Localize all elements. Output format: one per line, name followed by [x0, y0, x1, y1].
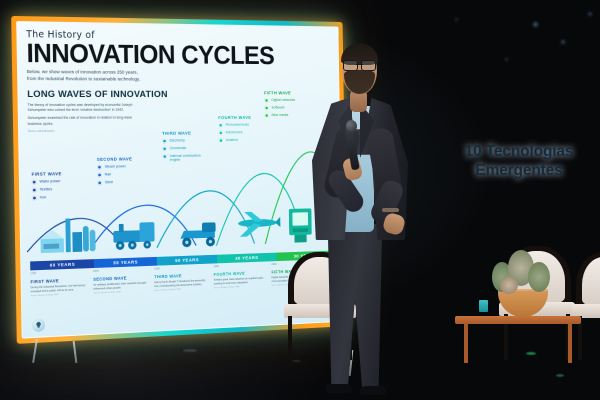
duration-label: 60 YEARS: [50, 262, 75, 268]
wave-item-label: Water power: [39, 179, 60, 184]
table-leg: [464, 323, 468, 363]
overlay-title: 10 Tecnologias Emergentes: [446, 143, 592, 181]
wave-item-label: Rail: [105, 172, 111, 177]
wave-item-label: Textiles: [40, 187, 53, 192]
bullet-dot: [32, 179, 37, 184]
wave-item: Digital networks: [264, 98, 295, 103]
wave-item: Petrochemicals: [218, 122, 251, 128]
wave-legend-second: SECOND WAVE Steam power Rail Steel: [97, 156, 133, 187]
teal-cup: [479, 300, 488, 312]
wave-item: Chemicals: [162, 145, 210, 151]
table-leg: [568, 323, 572, 363]
footnote-text: Aviation gave mass adoption on a global …: [214, 276, 268, 286]
wave-item: Water power: [32, 179, 62, 185]
year-tick: 1900: [154, 267, 160, 270]
overlay-line-2: Emergentes: [446, 162, 592, 181]
year-tick: 1950: [214, 265, 219, 268]
footnote-text: Henry Ford's Model T introduced the asse…: [154, 279, 209, 289]
presenter-trousers: [324, 224, 386, 392]
bokeh-light: [455, 18, 458, 21]
presenter-shoe: [360, 386, 386, 395]
wave-title: FOURTH WAVE: [218, 115, 251, 120]
wave-legend-fourth: FOURTH WAVE Petrochemicals Electronics A…: [218, 115, 252, 145]
overlay-line-1: 10 Tecnologias: [446, 143, 592, 162]
wave-title: FIFTH WAVE: [264, 91, 295, 96]
stage-scene: The History of INNOVATION CYCLES Below, …: [0, 0, 600, 400]
wooden-coffee-table: [455, 316, 581, 324]
automobile-icon: [175, 218, 223, 248]
wave-title: FIRST WAVE: [32, 171, 62, 176]
eyeglasses: [343, 60, 376, 69]
floor-glint: [526, 352, 536, 355]
bullet-dot: [264, 105, 269, 110]
flower: [500, 276, 518, 294]
wave-item: Software: [264, 105, 295, 110]
wave-legend-first: FIRST WAVE Water power Textiles Iron: [32, 171, 63, 203]
bokeh-light: [588, 12, 592, 16]
bullet-dot: [162, 146, 167, 151]
screen-leg: [73, 341, 78, 363]
bullet-dot: [162, 138, 167, 143]
wave-legend-third: THIRD WAVE Electricity Chemicals Interna…: [162, 131, 210, 165]
bullet-dot: [32, 195, 37, 200]
floor-glint: [292, 360, 301, 362]
duration-label: 40 YEARS: [235, 255, 258, 261]
ornate-chair-right: [572, 252, 600, 362]
floor-glint: [556, 374, 564, 377]
wave-item: Rail: [97, 172, 133, 178]
duration-label: 50 YEARS: [175, 257, 199, 263]
footnote-fourth: FOURTH WAVE Aviation gave mass adoption …: [214, 270, 268, 290]
bullet-dot: [97, 180, 102, 185]
bullet-dot: [162, 154, 167, 159]
wave-title: THIRD WAVE: [162, 131, 210, 136]
wave-item-label: Chemicals: [170, 146, 187, 151]
wave-item: Aviation: [219, 137, 252, 143]
presenter: [300, 28, 432, 400]
wave-item: New media: [264, 113, 295, 118]
wave-item-label: Petrochemicals: [226, 122, 250, 126]
bullet-dot: [264, 113, 269, 118]
wave-legend-fifth: FIFTH WAVE Digital networks Software New…: [264, 91, 295, 121]
wave-item-label: Digital networks: [271, 98, 295, 102]
footnote-second: SECOND WAVE As railways proliferated, th…: [93, 275, 150, 295]
wave-item-label: Steam power: [105, 164, 126, 169]
wave-item: Electricity: [162, 138, 210, 144]
bullet-dot: [219, 138, 224, 143]
flower: [528, 262, 550, 292]
year-tick: 1785: [30, 272, 36, 275]
wave-item: Internal-combustion engine: [162, 153, 210, 162]
presenter-shoe: [326, 384, 352, 393]
presenter-watch: [382, 208, 399, 212]
footnote-third: THIRD WAVE Henry Ford's Model T introduc…: [154, 272, 209, 292]
wave-item-label: Electronics: [226, 130, 243, 134]
bullet-dot: [97, 172, 102, 177]
wave-item-label: Iron: [40, 195, 47, 200]
duration-label: 55 YEARS: [113, 259, 138, 265]
wave-item: Steam power: [97, 164, 133, 170]
wave-item-label: Software: [271, 105, 284, 109]
wave-item-label: Steel: [105, 180, 113, 185]
bokeh-light: [533, 22, 538, 27]
wave-item-label: New media: [272, 113, 289, 117]
bullet-dot: [264, 98, 269, 103]
year-tick: 1990: [271, 263, 276, 266]
floor-glint: [183, 349, 197, 352]
bokeh-light: [561, 40, 565, 44]
bullet-dot: [32, 187, 37, 192]
footnote-first: FIRST WAVE During the Industrial Revolut…: [30, 277, 88, 298]
wave-item-label: Aviation: [226, 138, 238, 142]
bullet-dot: [218, 123, 223, 128]
bullet-dot: [97, 164, 102, 169]
bokeh-light: [505, 58, 508, 61]
factory-icon: [38, 212, 98, 253]
wave-item: Steel: [97, 179, 133, 185]
year-tick: 1845: [93, 270, 99, 273]
wave-title: SECOND WAVE: [97, 156, 133, 161]
airplane-icon: [231, 211, 281, 245]
wave-item: Textiles: [32, 187, 62, 193]
wave-item-label: Internal-combustion engine: [170, 153, 210, 162]
lightbulb-icon: [34, 321, 43, 330]
wave-item: Iron: [32, 195, 62, 201]
bullet-dot: [219, 130, 224, 135]
wave-item-label: Electricity: [170, 138, 185, 142]
wave-item: Electronics: [219, 130, 252, 136]
locomotive-icon: [109, 218, 162, 251]
